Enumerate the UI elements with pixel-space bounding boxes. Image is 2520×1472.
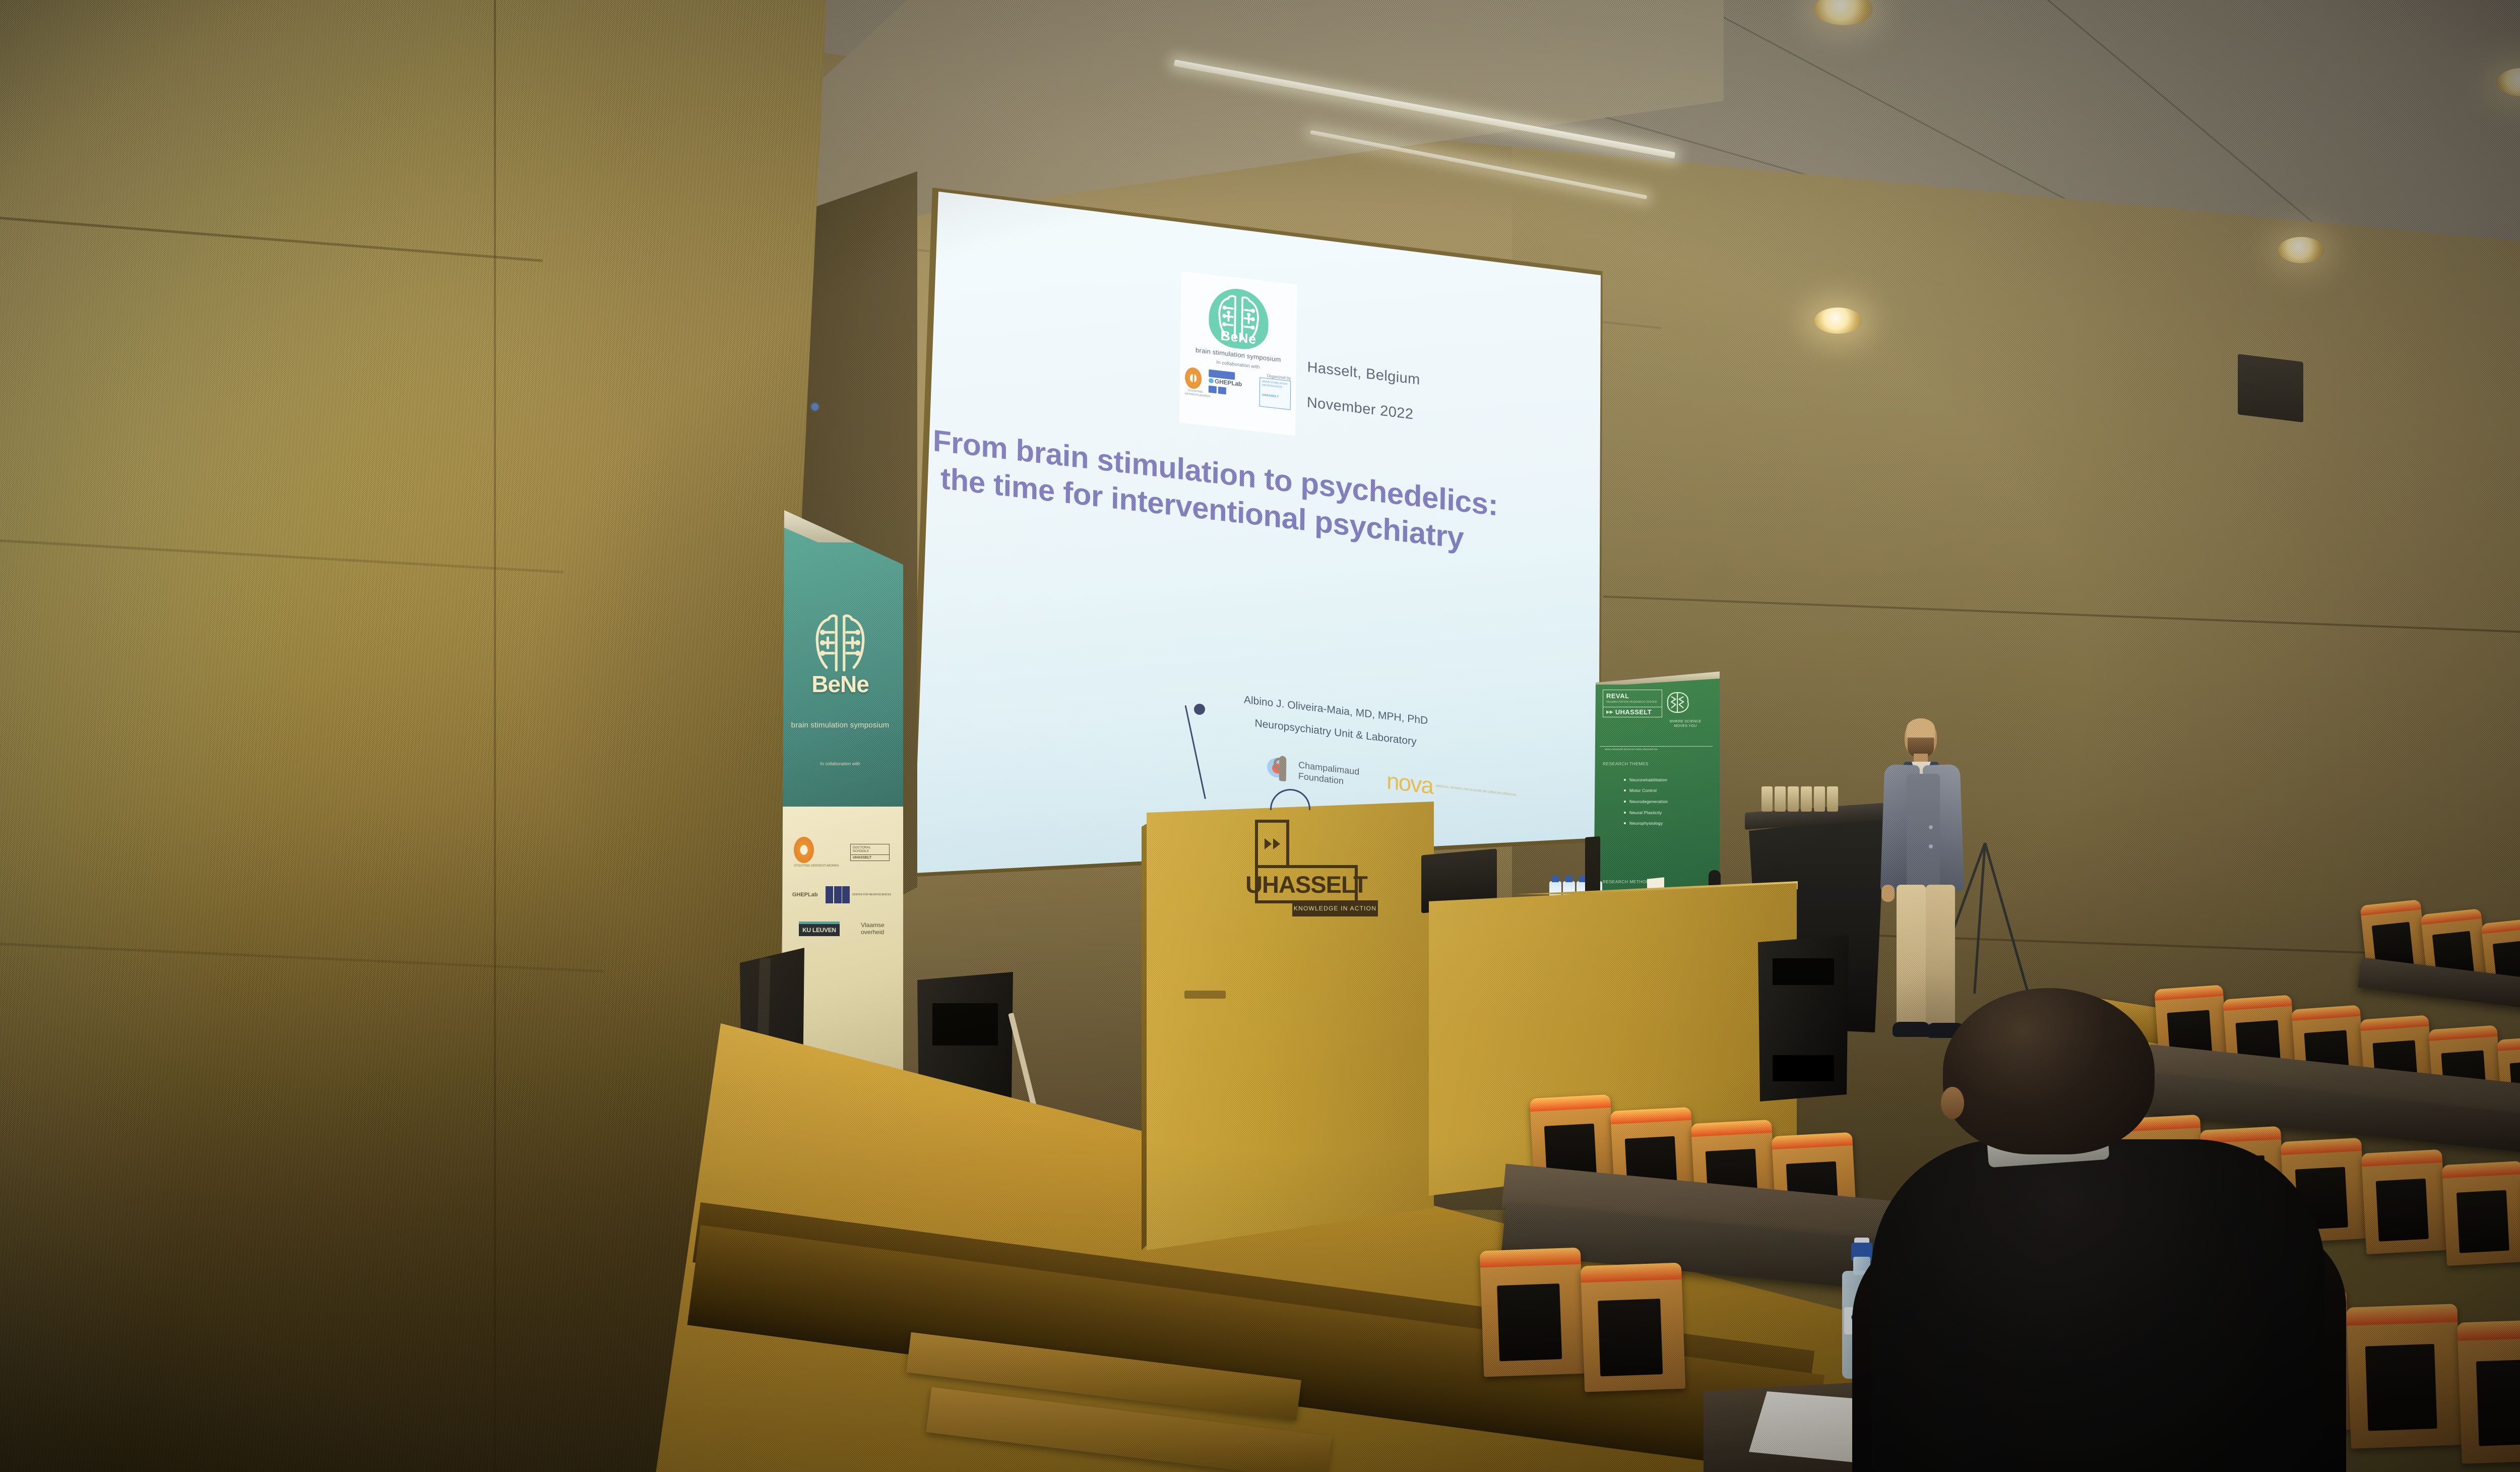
auditorium-seat[interactable]	[2346, 1304, 2462, 1449]
ku-leuven-logo: KU LEUVEN	[799, 922, 840, 936]
doctoral-schools-line1: DOCTORAL SCHOOLS	[850, 844, 890, 855]
stichting-logo-icon	[794, 837, 814, 863]
stichting-caption: STICHTING HERSENTUMOREN	[1185, 389, 1206, 397]
sponsor-row: STICHTING HERSENTUMOREN GHEPLab Organize…	[1180, 363, 1296, 410]
reval-name: REVAL	[1606, 692, 1659, 700]
banner-tagline: brain stimulation symposium	[777, 721, 903, 729]
stichting-logo-icon	[1185, 366, 1202, 390]
research-themes-label: RESEARCH THEMES	[1603, 761, 1649, 766]
gheplab-dot-icon	[1209, 378, 1214, 384]
screen-indicator-led-icon	[811, 403, 818, 410]
seated-audience-member	[1842, 988, 2351, 1472]
symposium-tagline: brain stimulation symposium	[1195, 346, 1281, 363]
theme-item: Neural Plasticity	[1624, 808, 1668, 819]
slide-date: November 2022	[1307, 394, 1414, 423]
auditorium-seat[interactable]	[2457, 1319, 2520, 1464]
uhasselt-tagline: KNOWLEDGE IN ACTION	[1292, 900, 1378, 916]
auditorium-seat[interactable]	[1480, 1248, 1585, 1377]
uhasselt-logo-box: ▶▶ UHASSELT	[1603, 707, 1662, 717]
organizer-box-name: UHASSELT	[1262, 394, 1288, 401]
champalimaud-logo: Champalimaud Foundation	[1267, 753, 1360, 791]
auditorium-photo: BeNe brain stimulation symposium In coll…	[0, 0, 2520, 1472]
podium-shelf-slot	[1184, 991, 1226, 999]
uhasselt-name: UHASSELT	[1615, 708, 1652, 716]
auditorium-seat[interactable]	[1581, 1263, 1686, 1392]
ubican-sub: CENTER FOR NEUROSCIENCES	[852, 893, 892, 896]
vlaamse-line1: Vlaamse	[861, 922, 885, 929]
theme-item: Motor Control	[1624, 785, 1668, 796]
gheplab-logo: GHEPLab	[792, 892, 818, 898]
theme-item: Neurodegeneration	[1624, 796, 1668, 808]
organizer-box-lines: BRAIN STIMULATION NEUROSCIENCE	[1262, 380, 1287, 389]
reval-subtitle: REHABILITATION RESEARCH CENTER	[1606, 701, 1659, 705]
banner-sponsor-grid: STICHTING HERSENTUMOREN DOCTORAL SCHOOLS…	[788, 837, 895, 954]
doctoral-schools-line2: UHASSELT	[850, 855, 890, 861]
cups-group	[1761, 786, 1838, 812]
reval-urls: www.uhasselt.be/reval www.uhasselt.be	[1605, 748, 1658, 751]
wall-mounted-speaker	[2238, 354, 2303, 422]
stichting-caption: STICHTING HERSENTUMOREN	[794, 865, 839, 868]
ceiling-downlight-icon	[1814, 308, 1862, 334]
microphone-head-icon	[1194, 704, 1205, 715]
ubican-logo: CENTER FOR NEUROSCIENCES	[826, 886, 891, 903]
theme-item: Neurophysiology	[1624, 818, 1668, 829]
chevron-double-icon	[1255, 820, 1289, 868]
vlaamse-line2: overheid	[861, 929, 885, 936]
chevron-double-icon: ▶▶	[1606, 709, 1613, 715]
uhasselt-podium-logo: UHASSELT KNOWLEDGE IN ACTION	[1255, 820, 1381, 923]
nova-wordmark: nova	[1387, 767, 1433, 800]
ceiling-downlight-icon	[2278, 237, 2324, 263]
research-methods-label: RESEARCH METHODS	[1603, 879, 1653, 884]
doctoral-schools-logo: DOCTORAL SCHOOLS UHASSELT	[850, 844, 890, 861]
auditorium-seat[interactable]	[2361, 1149, 2447, 1254]
slide-title: From brain stimulation to psychedelics: …	[932, 422, 1568, 569]
reval-tagline: WHERE SCIENCE MOVES YOU	[1662, 719, 1709, 728]
uhasselt-wordmark: UHASSELT	[1245, 871, 1367, 898]
champalimaud-mark-icon	[1267, 753, 1295, 783]
reval-brain-icon	[1662, 690, 1693, 716]
vlaamse-overheid-logo: Vlaamse overheid	[861, 922, 885, 936]
bene-brain-logo-icon: BeNe	[1209, 286, 1269, 352]
banner-bene-brain-icon	[807, 605, 873, 681]
banner-collaboration-label: In collaboration with	[777, 761, 903, 766]
theme-item: Neurorehabilitation	[1624, 775, 1668, 786]
loudspeaker-cabinet-right	[1758, 935, 1849, 1101]
slide-location: Hasselt, Belgium	[1307, 359, 1420, 389]
banner-bene-wordmark: BeNe	[777, 670, 903, 698]
nova-subtitle: MEDICAL SCHOOL FACULDADE DE CIÊNCIAS MÉD…	[1436, 784, 1517, 798]
organizer-logo-box: BRAIN STIMULATION NEUROSCIENCE UHASSELT	[1259, 377, 1291, 410]
slide-header-logo-block: BeNe brain stimulation symposium In coll…	[1179, 271, 1297, 436]
research-themes-list: Neurorehabilitation Motor Control Neurod…	[1604, 775, 1668, 829]
reval-logo-box: REVAL REHABILITATION RESEARCH CENTER	[1603, 690, 1662, 707]
auditorium-seat[interactable]	[2442, 1161, 2520, 1266]
